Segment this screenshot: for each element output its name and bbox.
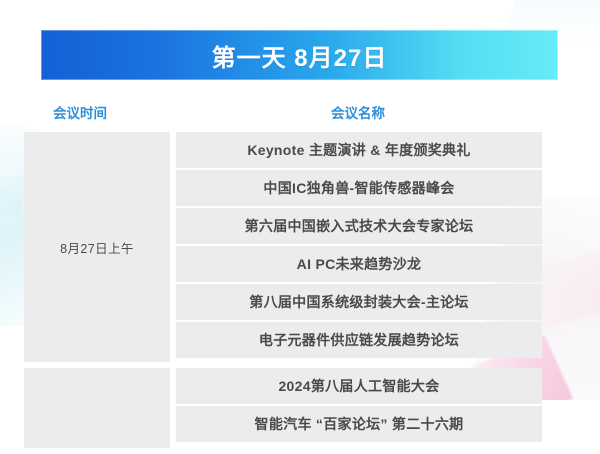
table-row[interactable]: 中国IC独角兽-智能传感器峰会 [176,170,542,206]
schedule-group: 8月27日上午 Keynote 主题演讲 & 年度颁奖典礼 中国IC独角兽-智能… [0,132,600,362]
schedule-group: 2024第八届人工智能大会 智能汽车 “百家论坛” 第二十六期 [0,368,600,448]
table-row[interactable]: 第六届中国嵌入式技术大会专家论坛 [176,208,542,244]
table-header-row: 会议时间 会议名称 [0,92,600,132]
time-cell: 8月27日上午 [24,132,170,362]
table-row[interactable]: 智能汽车 “百家论坛” 第二十六期 [176,406,542,442]
table-row[interactable]: Keynote 主题演讲 & 年度颁奖典礼 [176,132,542,168]
time-cell [24,368,170,448]
session-list: Keynote 主题演讲 & 年度颁奖典礼 中国IC独角兽-智能传感器峰会 第六… [176,132,542,362]
column-header-time: 会议时间 [0,102,160,122]
table-row[interactable]: 2024第八届人工智能大会 [176,368,542,404]
day-banner: 第一天 8月27日 [41,30,558,80]
table-body: 8月27日上午 Keynote 主题演讲 & 年度颁奖典礼 中国IC独角兽-智能… [0,132,600,448]
table-row[interactable]: 电子元器件供应链发展趋势论坛 [176,322,542,358]
table-row[interactable]: AI PC未来趋势沙龙 [176,246,542,282]
table-row[interactable]: 第八届中国系统级封装大会-主论坛 [176,284,542,320]
column-header-name: 会议名称 [160,102,600,122]
session-list: 2024第八届人工智能大会 智能汽车 “百家论坛” 第二十六期 [176,368,542,448]
day-banner-title: 第一天 8月27日 [212,38,388,73]
